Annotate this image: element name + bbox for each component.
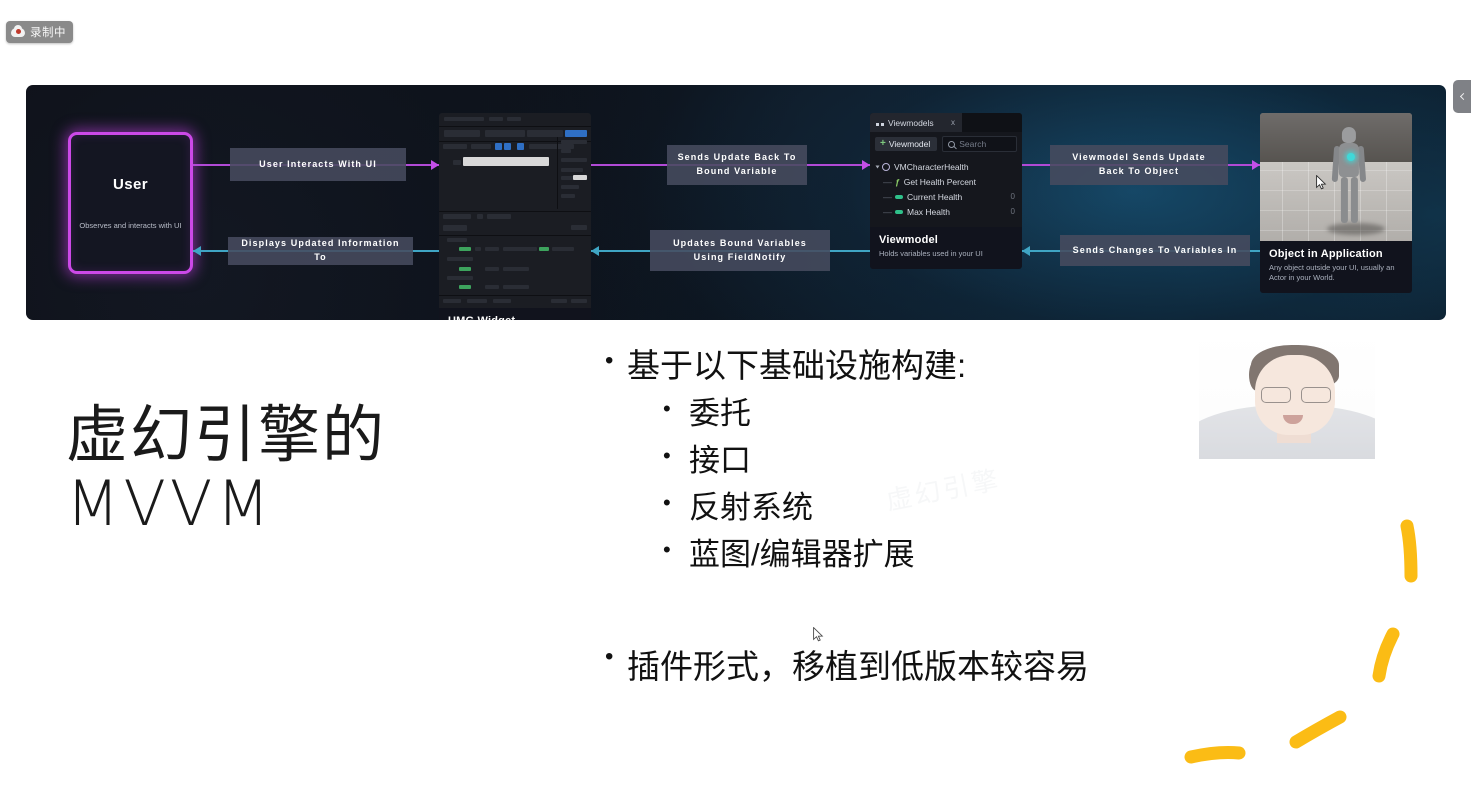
tree-item-label: VMCharacterHealth [894, 162, 969, 172]
screen-root: 录制中 User Observes and interacts with UI … [0, 0, 1471, 796]
umg-editor-screenshot [439, 113, 591, 308]
viewmodels-panel: Viewmodels x + Viewmodel Search [870, 113, 1022, 227]
page-title-line2: MVVM [66, 469, 546, 538]
cloud-record-icon [11, 28, 25, 37]
viewmodel-class-icon [882, 163, 890, 171]
tree-line-icon: — [883, 207, 892, 217]
search-icon [948, 141, 955, 148]
chevron-left-icon [1459, 93, 1466, 100]
node-viewmodel-title: Viewmodel [879, 234, 1013, 246]
viewmodels-tree: VMCharacterHealth — ƒ Get Health Percent… [870, 156, 1022, 227]
arrowhead-umg-to-user [193, 246, 201, 256]
node-umg-widget: UMG Widget Frontend UI which user intera… [439, 113, 591, 320]
label-displays-updated-information-to: Displays Updated Information To [228, 237, 413, 265]
bullet-text: 委托 [689, 390, 751, 437]
bullet-item-last: • 插件形式，移植到低版本较容易 [605, 640, 1089, 688]
tree-line-icon: — [883, 192, 892, 202]
page-title-line1: 虚幻引擎的 [66, 398, 386, 471]
node-viewmodel-subtitle: Holds variables used in your UI [879, 249, 1013, 259]
label-viewmodel-sends-update-back-to-object: Viewmodel Sends Update Back To Object [1050, 145, 1228, 185]
tree-item-label: Get Health Percent [904, 177, 976, 187]
variable-icon [895, 210, 903, 214]
tree-item-current-health[interactable]: — Current Health 0 [870, 189, 1022, 204]
plus-icon: + [880, 139, 886, 149]
arrowhead-object-to-viewmodel [1022, 246, 1030, 256]
viewmodels-search-placeholder: Search [959, 139, 986, 149]
add-viewmodel-label: Viewmodel [889, 139, 930, 149]
tree-item-value: 0 [1011, 207, 1015, 216]
arrowhead-umg-to-viewmodel [862, 160, 870, 170]
bullet-text: 插件形式，移植到低版本较容易 [627, 640, 1089, 688]
tree-item-vmcharacterhealth[interactable]: VMCharacterHealth [870, 159, 1022, 174]
bullet-text: 蓝图/编辑器扩展 [689, 531, 915, 578]
label-sends-update-back-to-bound-variable: Sends Update Back To Bound Variable [667, 145, 807, 185]
viewmodels-tab-icon [876, 119, 884, 127]
bullet-marker: • [605, 640, 627, 688]
node-umg-title: UMG Widget [448, 315, 582, 320]
mvvm-flow-diagram: User Observes and interacts with UI User… [26, 85, 1446, 320]
label-updates-bound-variables-using-fieldnotify: Updates Bound Variables Using FieldNotif… [650, 230, 830, 271]
node-object-in-application: Object in Application Any object outside… [1260, 113, 1412, 293]
bullet-item-3: • 反射系统 [663, 484, 1305, 531]
bullet-marker: • [663, 531, 689, 569]
mouse-cursor [813, 627, 824, 642]
node-viewmodel: Viewmodels x + Viewmodel Search [870, 113, 1022, 269]
bullet-marker: • [663, 484, 689, 522]
recording-label: 录制中 [30, 24, 66, 40]
bullet-marker: • [663, 390, 689, 428]
close-icon[interactable]: x [951, 118, 955, 127]
chevron-down-icon[interactable] [876, 165, 880, 168]
presenter-webcam[interactable] [1199, 331, 1375, 459]
bullet-item-4: • 蓝图/编辑器扩展 [663, 531, 1305, 578]
diagram-background-glow [26, 85, 1446, 320]
viewmodels-tabbar: Viewmodels x [870, 113, 1022, 132]
node-umg-caption: UMG Widget Frontend UI which user intera… [439, 308, 591, 320]
node-object-title: Object in Application [1269, 248, 1403, 260]
label-sends-changes-to-variables-in: Sends Changes To Variables In [1060, 235, 1250, 266]
panel-collapse-button[interactable] [1453, 80, 1471, 113]
arrowhead-viewmodel-to-umg [591, 246, 599, 256]
bullet-text: 基于以下基础设施构建: [627, 342, 966, 390]
tab-viewmodels[interactable]: Viewmodels x [870, 113, 962, 132]
viewmodels-toolbar: + Viewmodel Search [870, 132, 1022, 156]
object-viewport-screenshot [1260, 113, 1412, 241]
character-mannequin [1332, 127, 1366, 229]
node-object-subtitle: Any object outside your UI, usually an A… [1269, 263, 1403, 283]
recording-badge[interactable]: 录制中 [6, 21, 73, 43]
bullet-text: 接口 [689, 437, 751, 484]
arrowhead-viewmodel-to-object [1252, 160, 1260, 170]
function-icon: ƒ [895, 177, 900, 187]
page-title: 虚幻引擎的 MVVM [66, 400, 546, 539]
tree-item-value: 0 [1011, 192, 1015, 201]
bullet-marker: • [605, 342, 627, 381]
tab-viewmodels-label: Viewmodels [888, 118, 934, 128]
node-user-subtitle: Observes and interacts with UI [71, 221, 189, 231]
add-viewmodel-button[interactable]: + Viewmodel [875, 137, 937, 151]
viewmodels-search-input[interactable]: Search [942, 136, 1017, 152]
label-user-interacts-with-ui: User Interacts With UI [230, 148, 406, 181]
variable-icon [895, 195, 903, 199]
tree-item-max-health[interactable]: — Max Health 0 [870, 204, 1022, 219]
viewport-mouse-cursor [1316, 175, 1327, 190]
arrowhead-user-to-umg [431, 160, 439, 170]
node-viewmodel-caption: Viewmodel Holds variables used in your U… [870, 227, 1022, 269]
node-user: User Observes and interacts with UI [68, 132, 193, 274]
tree-item-label: Max Health [907, 207, 950, 217]
node-object-caption: Object in Application Any object outside… [1260, 241, 1412, 293]
tree-item-get-health-percent[interactable]: — ƒ Get Health Percent [870, 174, 1022, 189]
node-user-title: User [113, 176, 148, 193]
tree-line-icon: — [883, 177, 892, 187]
bullet-text: 反射系统 [689, 484, 813, 531]
tree-item-label: Current Health [907, 192, 962, 202]
bullet-marker: • [663, 437, 689, 475]
